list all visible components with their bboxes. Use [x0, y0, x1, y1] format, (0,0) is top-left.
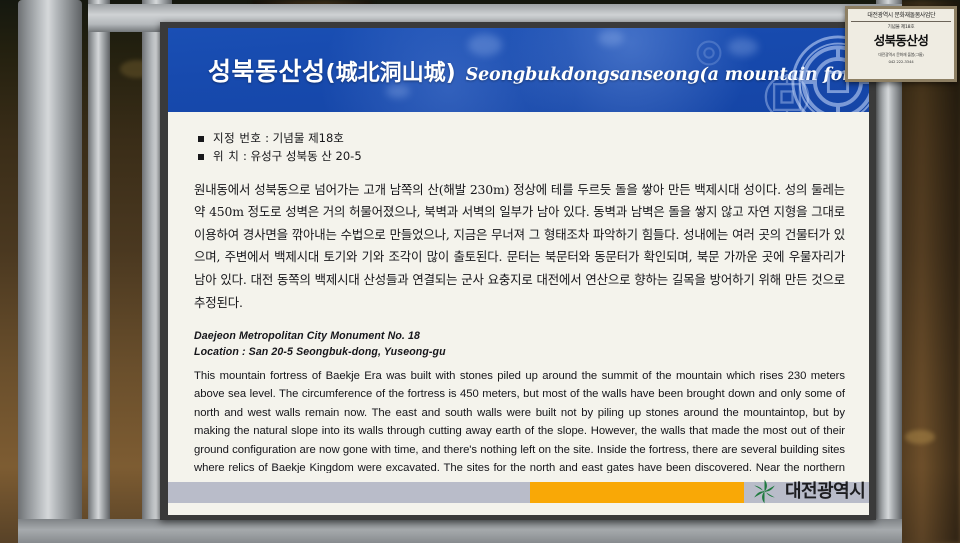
monument-plaque: 대전광역시 문화재돌봄사업단 기념물 제18호 성북동산성 대전광역시 문화재 …: [845, 6, 957, 82]
city-name-label: 대전광역시: [785, 483, 865, 501]
meta-row: 위 치 : 유성구 성북동 산 20-5: [198, 148, 845, 166]
plaque-organization: 대전광역시 문화재돌봄사업단: [867, 10, 935, 19]
plaque-category: 기념물 제18호: [888, 24, 915, 30]
daejeon-pinwheel-logo-icon: [751, 478, 778, 505]
plaque-title: 성북동산성: [874, 30, 929, 49]
title-hanja: (城北洞山城): [326, 55, 456, 87]
meta-value: 기념물 제18호: [273, 130, 344, 148]
bullet-square-icon: [198, 136, 204, 142]
korean-description-paragraph: 원내동에서 성북동으로 넘어가는 고개 남쪽의 산(해발 230m) 정상에 테…: [194, 179, 845, 314]
signboard-footer: 대전광역시: [168, 473, 869, 515]
bullet-square-icon: [198, 154, 204, 160]
footer-orange-bar: [530, 482, 744, 503]
meta-separator: :: [239, 148, 250, 166]
meta-row: 지정 번호 : 기념물 제18호: [198, 130, 845, 148]
outdoor-scene: 성북동산성 (城北洞山城) Seongbukdongsanseong(a mou…: [0, 0, 960, 543]
signboard-face: 성북동산성 (城北洞山城) Seongbukdongsanseong(a mou…: [168, 28, 869, 515]
header-light-dot: [598, 30, 624, 46]
title-korean: 성북동산성: [208, 52, 326, 88]
meta-separator: :: [261, 130, 272, 148]
traditional-pattern-emblem-faint: [696, 40, 722, 66]
meta-value: 유성구 성북동 산 20-5: [251, 148, 362, 166]
signboard-body: 지정 번호 : 기념물 제18호 위 치 : 유성구 성북동 산 20-5 원내…: [168, 112, 869, 473]
sign-support-post-left: [18, 0, 82, 543]
plaque-address: 대전광역시 문화재 돌봄(그룹): [878, 52, 923, 58]
sign-frame-vertical-a: [88, 0, 110, 543]
traditional-pattern-emblem-small: [764, 74, 810, 112]
ground-leaf: [905, 430, 935, 444]
signboard-header: 성북동산성 (城北洞山城) Seongbukdongsanseong(a mou…: [168, 28, 869, 112]
plaque-phone: 042 222-3344: [889, 59, 914, 64]
english-location-line: Location : San 20-5 Seongbuk-dong, Yuseo…: [194, 345, 845, 361]
designation-meta-list: 지정 번호 : 기념물 제18호 위 치 : 유성구 성북동 산 20-5: [194, 130, 845, 166]
meta-label: 위 치: [213, 148, 239, 166]
city-brand-mark: 대전광역시: [751, 478, 865, 505]
sign-frame-bottom-bar: [18, 519, 902, 543]
information-signboard: 성북동산성 (城北洞山城) Seongbukdongsanseong(a mou…: [160, 22, 876, 520]
meta-label: 지정 번호: [213, 130, 261, 148]
plaque-divider: [851, 21, 951, 22]
monument-plaque-face: 대전광역시 문화재돌봄사업단 기념물 제18호 성북동산성 대전광역시 문화재 …: [848, 9, 954, 79]
english-monument-number: Daejeon Metropolitan City Monument No. 1…: [194, 329, 845, 345]
